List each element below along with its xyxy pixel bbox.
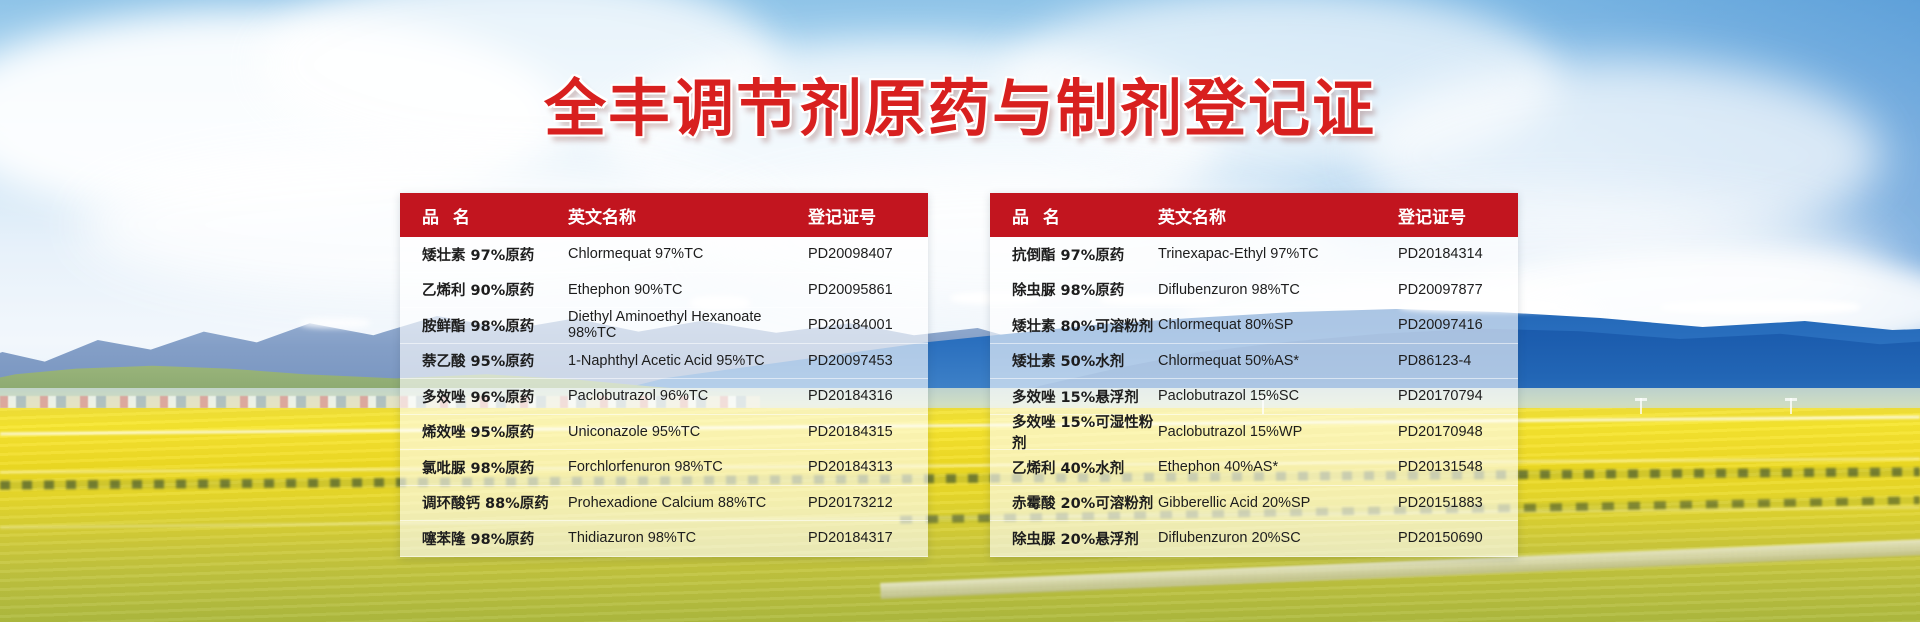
table-row: 矮壮素 50%水剂 Chlormequat 50%AS* PD86123-4	[990, 343, 1518, 379]
table-row: 多效唑 15%悬浮剂 Paclobutrazol 15%SC PD2017079…	[990, 378, 1518, 414]
cell-name: 乙烯利 90%原药	[400, 279, 568, 300]
cell-reg-no: PD20184317	[808, 530, 928, 546]
table-row: 乙烯利 90%原药 Ethephon 90%TC PD20095861	[400, 272, 928, 308]
cell-name: 矮壮素 97%原药	[400, 244, 568, 265]
table-row: 矮壮素 80%可溶粉剂 Chlormequat 80%SP PD20097416	[990, 307, 1518, 343]
table-row: 赤霉酸 20%可溶粉剂 Gibberellic Acid 20%SP PD201…	[990, 485, 1518, 521]
cell-english: Diethyl Aminoethyl Hexanoate 98%TC	[568, 309, 808, 341]
table-row: 萘乙酸 95%原药 1-Naphthyl Acetic Acid 95%TC P…	[400, 343, 928, 379]
cell-name: 萘乙酸 95%原药	[400, 350, 568, 371]
table-header-row: 品 名 英文名称 登记证号	[400, 193, 928, 237]
cell-name: 乙烯利 40%水剂	[990, 457, 1158, 478]
cell-name: 噻苯隆 98%原药	[400, 528, 568, 549]
cell-reg-no: PD86123-4	[1398, 353, 1518, 369]
cell-english: Diflubenzuron 98%TC	[1158, 282, 1398, 298]
cell-name: 氯吡脲 98%原药	[400, 457, 568, 478]
cell-english: Paclobutrazol 96%TC	[568, 388, 808, 404]
cell-reg-no: PD20170948	[1398, 424, 1518, 440]
cell-name: 矮壮素 50%水剂	[990, 350, 1158, 371]
table-row: 除虫脲 20%悬浮剂 Diflubenzuron 20%SC PD2015069…	[990, 520, 1518, 556]
column-header-name: 品 名	[400, 203, 568, 228]
cell-english: Paclobutrazol 15%WP	[1158, 424, 1398, 440]
cell-english: Chlormequat 50%AS*	[1158, 353, 1398, 369]
table-body: 抗倒酯 97%原药 Trinexapac-Ethyl 97%TC PD20184…	[990, 237, 1518, 557]
table-row: 矮壮素 97%原药 Chlormequat 97%TC PD20098407	[400, 237, 928, 272]
cell-name: 多效唑 96%原药	[400, 386, 568, 407]
cell-name: 除虫脲 20%悬浮剂	[990, 528, 1158, 549]
banner-title: 全丰调节剂原药与制剂登记证	[0, 58, 1920, 148]
column-header-english: 英文名称	[1158, 203, 1398, 228]
power-pylon	[1640, 398, 1642, 414]
column-header-name: 品 名	[990, 203, 1158, 228]
table-row: 调环酸钙 88%原药 Prohexadione Calcium 88%TC PD…	[400, 485, 928, 521]
table-row: 氯吡脲 98%原药 Forchlorfenuron 98%TC PD201843…	[400, 449, 928, 485]
power-pylon	[1790, 398, 1792, 414]
table-formulations: 品 名 英文名称 登记证号 抗倒酯 97%原药 Trinexapac-Ethyl…	[990, 193, 1518, 557]
table-row: 胺鲜酯 98%原药 Diethyl Aminoethyl Hexanoate 9…	[400, 307, 928, 343]
snow-cap	[1660, 300, 1860, 314]
cell-english: Prohexadione Calcium 88%TC	[568, 495, 808, 511]
snow-cap	[300, 318, 370, 328]
cell-english: Ethephon 40%AS*	[1158, 459, 1398, 475]
cell-name: 赤霉酸 20%可溶粉剂	[990, 492, 1158, 513]
cell-english: Trinexapac-Ethyl 97%TC	[1158, 246, 1398, 262]
cell-english: Uniconazole 95%TC	[568, 424, 808, 440]
cell-reg-no: PD20184316	[808, 388, 928, 404]
table-row: 烯效唑 95%原药 Uniconazole 95%TC PD20184315	[400, 414, 928, 450]
cell-english: Gibberellic Acid 20%SP	[1158, 495, 1398, 511]
cell-english: Thidiazuron 98%TC	[568, 530, 808, 546]
table-row: 乙烯利 40%水剂 Ethephon 40%AS* PD20131548	[990, 449, 1518, 485]
column-header-reg-no: 登记证号	[808, 203, 928, 228]
cell-english: Chlormequat 80%SP	[1158, 317, 1398, 333]
cell-english: 1-Naphthyl Acetic Acid 95%TC	[568, 353, 808, 369]
cell-english: Chlormequat 97%TC	[568, 246, 808, 262]
cell-reg-no: PD20170794	[1398, 388, 1518, 404]
cell-reg-no: PD20184001	[808, 317, 928, 333]
table-technical-materials: 品 名 英文名称 登记证号 矮壮素 97%原药 Chlormequat 97%T…	[400, 193, 928, 557]
cell-reg-no: PD20095861	[808, 282, 928, 298]
cell-name: 烯效唑 95%原药	[400, 421, 568, 442]
table-row: 除虫脲 98%原药 Diflubenzuron 98%TC PD20097877	[990, 272, 1518, 308]
table-row: 抗倒酯 97%原药 Trinexapac-Ethyl 97%TC PD20184…	[990, 237, 1518, 272]
table-row: 多效唑 96%原药 Paclobutrazol 96%TC PD20184316	[400, 378, 928, 414]
table-row: 多效唑 15%可湿性粉剂 Paclobutrazol 15%WP PD20170…	[990, 414, 1518, 450]
table-row: 噻苯隆 98%原药 Thidiazuron 98%TC PD20184317	[400, 520, 928, 556]
cell-reg-no: PD20184315	[808, 424, 928, 440]
column-header-reg-no: 登记证号	[1398, 203, 1518, 228]
cell-english: Ethephon 90%TC	[568, 282, 808, 298]
cell-reg-no: PD20097453	[808, 353, 928, 369]
cell-reg-no: PD20184313	[808, 459, 928, 475]
cell-reg-no: PD20097877	[1398, 282, 1518, 298]
cell-reg-no: PD20173212	[808, 495, 928, 511]
cell-name: 多效唑 15%可湿性粉剂	[990, 411, 1158, 453]
cell-english: Forchlorfenuron 98%TC	[568, 459, 808, 475]
cell-name: 多效唑 15%悬浮剂	[990, 386, 1158, 407]
table-header-row: 品 名 英文名称 登记证号	[990, 193, 1518, 237]
cell-reg-no: PD20098407	[808, 246, 928, 262]
table-body: 矮壮素 97%原药 Chlormequat 97%TC PD20098407 乙…	[400, 237, 928, 557]
cell-reg-no: PD20150690	[1398, 530, 1518, 546]
cell-english: Diflubenzuron 20%SC	[1158, 530, 1398, 546]
cell-name: 除虫脲 98%原药	[990, 279, 1158, 300]
cell-reg-no: PD20151883	[1398, 495, 1518, 511]
cell-reg-no: PD20097416	[1398, 317, 1518, 333]
registration-tables: 品 名 英文名称 登记证号 矮壮素 97%原药 Chlormequat 97%T…	[400, 193, 1520, 548]
cell-name: 胺鲜酯 98%原药	[400, 315, 568, 336]
cell-reg-no: PD20184314	[1398, 246, 1518, 262]
cell-name: 矮壮素 80%可溶粉剂	[990, 315, 1158, 336]
promo-banner: 全丰调节剂原药与制剂登记证 品 名 英文名称 登记证号 矮壮素 97%原药 Ch…	[0, 0, 1920, 622]
cell-name: 抗倒酯 97%原药	[990, 244, 1158, 265]
cell-reg-no: PD20131548	[1398, 459, 1518, 475]
cell-english: Paclobutrazol 15%SC	[1158, 388, 1398, 404]
column-header-english: 英文名称	[568, 203, 808, 228]
cell-name: 调环酸钙 88%原药	[400, 492, 568, 513]
